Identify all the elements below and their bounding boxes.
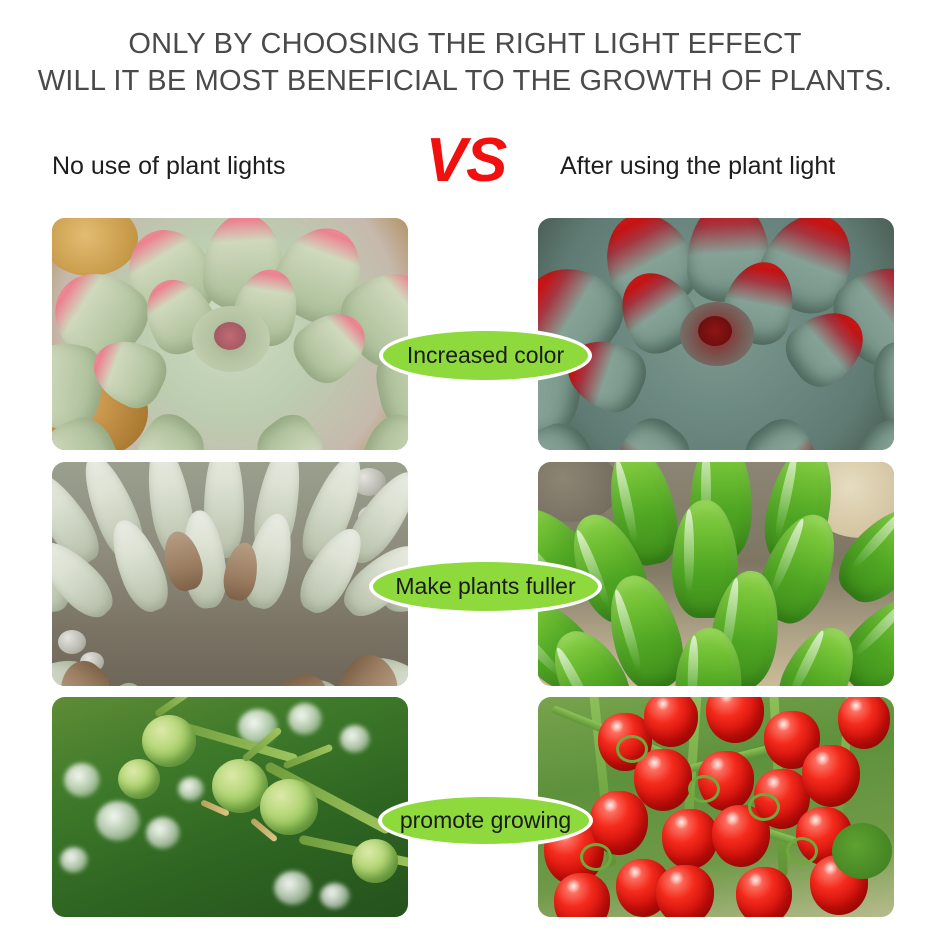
photo-row2-left <box>52 462 408 686</box>
red-echeveria-illustration <box>538 218 894 450</box>
photo-row3-left <box>52 697 408 917</box>
pale-haworthia-illustration <box>52 462 408 686</box>
badge-promote-growing: promote growing <box>378 793 593 848</box>
photo-row1-left <box>52 218 408 450</box>
badge-increased-color: Increased color <box>379 327 592 384</box>
page-title: ONLY BY CHOOSING THE RIGHT LIGHT EFFECT … <box>0 26 930 100</box>
vs-label: VS <box>411 128 521 194</box>
badge-label: promote growing <box>400 807 571 834</box>
badge-label: Increased color <box>407 342 564 369</box>
left-column-label: No use of plant lights <box>52 152 285 181</box>
photo-row1-right <box>538 218 894 450</box>
badge-make-plants-fuller: Make plants fuller <box>369 558 602 615</box>
comparison-header: No use of plant lights VS After using th… <box>0 128 930 200</box>
right-column-label: After using the plant light <box>560 152 835 181</box>
unripe-tomatoes-illustration <box>52 697 408 917</box>
promo-infographic: ONLY BY CHOOSING THE RIGHT LIGHT EFFECT … <box>0 0 930 930</box>
headline-line-1: ONLY BY CHOOSING THE RIGHT LIGHT EFFECT <box>128 28 801 60</box>
pale-echeveria-illustration <box>52 218 408 450</box>
photo-row3-right <box>538 697 894 917</box>
badge-label: Make plants fuller <box>395 573 575 600</box>
headline-line-2: WILL IT BE MOST BENEFICIAL TO THE GROWTH… <box>0 63 930 100</box>
ripe-tomatoes-illustration <box>538 697 894 917</box>
